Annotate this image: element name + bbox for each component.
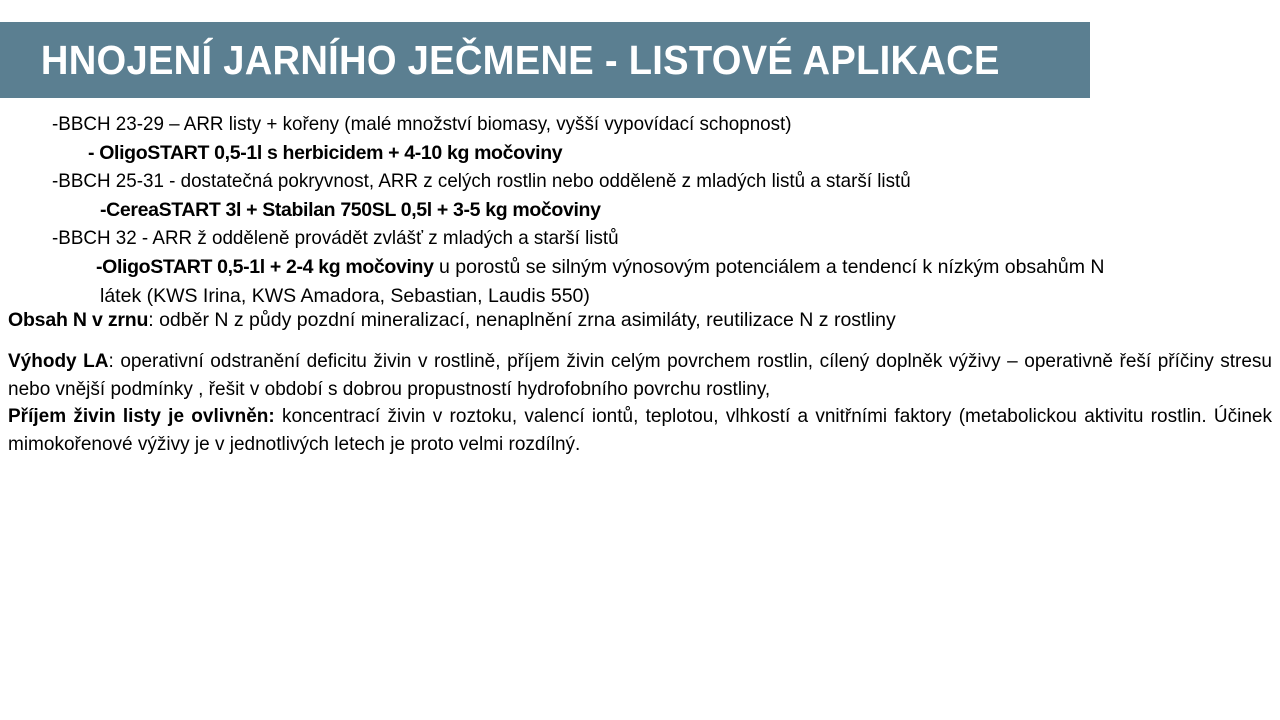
- bullet-bbch-23-29: -BBCH 23-29 – ARR listy + kořeny (malé m…: [0, 110, 1280, 139]
- bullet-bbch-23-29-text: -BBCH 23-29 – ARR listy + kořeny (malé m…: [52, 110, 792, 139]
- bullet-list: -BBCH 23-29 – ARR listy + kořeny (malé m…: [0, 110, 1280, 310]
- bullet-cereastart-stabilan-text: -CereaSTART 3l + Stabilan 750SL 0,5l + 3…: [100, 199, 601, 221]
- prijem-zivin-label: Příjem živin listy je ovlivněn:: [8, 406, 275, 427]
- obsah-n-label: Obsah N v zrnu: [8, 309, 148, 331]
- bullet-oligostart-mocovina-bold: -OligoSTART 0,5-1l + 2-4 kg močoviny: [96, 256, 434, 278]
- obsah-n-text: : odběr N z půdy pozdní mineralizací, ne…: [148, 309, 895, 331]
- bullet-oligostart-mocovina-text: u porostů se silným výnosovým potenciále…: [434, 256, 1105, 278]
- bullet-bbch-25-31: -BBCH 25-31 - dostatečná pokryvnost, ARR…: [0, 167, 1280, 196]
- bullet-odrudy: látek (KWS Irina, KWS Amadora, Sebastian…: [0, 282, 1280, 311]
- obsah-n-line: Obsah N v zrnu: odběr N z půdy pozdní mi…: [8, 307, 896, 333]
- bullet-odrudy-text: látek (KWS Irina, KWS Amadora, Sebastian…: [100, 285, 590, 307]
- notes-block: Výhody LA: operativní odstranění deficit…: [8, 348, 1272, 458]
- bullet-oligostart-mocovina: -OligoSTART 0,5-1l + 2-4 kg močoviny u p…: [0, 253, 1280, 282]
- bullet-bbch-32-text: -BBCH 32 - ARR ž odděleně provádět zvláš…: [52, 224, 619, 253]
- slide-title: HNOJENÍ JARNÍHO JEČMENE - LISTOVÉ APLIKA…: [0, 40, 1000, 81]
- vyhody-la-text: : operativní odstranění deficitu živin v…: [8, 351, 1272, 400]
- vyhody-la-label: Výhody LA: [8, 351, 109, 372]
- bullet-bbch-25-31-text: -BBCH 25-31 - dostatečná pokryvnost, ARR…: [52, 167, 911, 196]
- title-banner: HNOJENÍ JARNÍHO JEČMENE - LISTOVÉ APLIKA…: [0, 22, 1090, 98]
- bullet-oligostart-herbicid: - OligoSTART 0,5-1l s herbicidem + 4-10 …: [0, 139, 1280, 168]
- bullet-cereastart-stabilan: -CereaSTART 3l + Stabilan 750SL 0,5l + 3…: [0, 196, 1280, 225]
- paragraph-vyhody-la: Výhody LA: operativní odstranění deficit…: [8, 348, 1272, 403]
- bullet-bbch-32: -BBCH 32 - ARR ž odděleně provádět zvláš…: [0, 224, 1280, 253]
- slide-canvas: HNOJENÍ JARNÍHO JEČMENE - LISTOVÉ APLIKA…: [0, 0, 1280, 720]
- paragraph-prijem-zivin: Příjem živin listy je ovlivněn: koncentr…: [8, 403, 1272, 458]
- bullet-oligostart-herbicid-text: - OligoSTART 0,5-1l s herbicidem + 4-10 …: [88, 142, 562, 164]
